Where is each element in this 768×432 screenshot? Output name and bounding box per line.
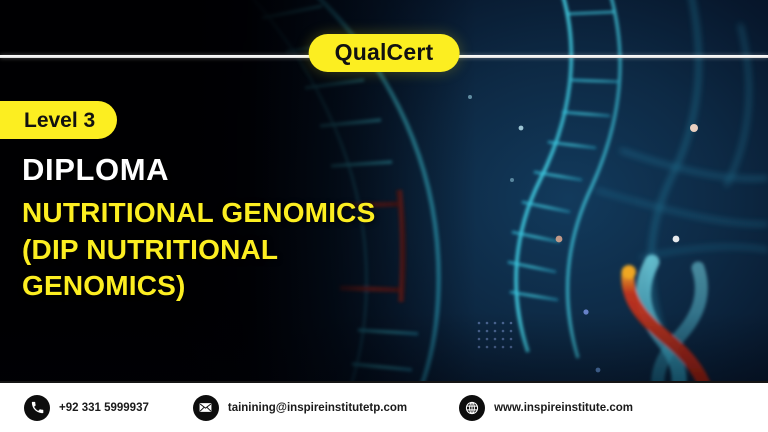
level-badge: Level 3 <box>0 101 117 139</box>
dot-grid-icon <box>476 320 518 354</box>
globe-icon <box>459 395 485 421</box>
course-banner: QualCert Level 3 DIPLOMA NUTRITIONAL GEN… <box>0 0 768 432</box>
course-subtitle-line-2: (DIP NUTRITIONAL <box>22 232 522 269</box>
contact-footer: +92 331 5999937 tainining@inspireinstitu… <box>0 381 768 432</box>
dna-helix-small <box>508 0 622 358</box>
contact-phone-value: +92 331 5999937 <box>59 402 149 414</box>
brand-badge: QualCert <box>309 34 460 72</box>
contact-website[interactable]: www.inspireinstitute.com <box>459 395 633 421</box>
contact-phone[interactable]: +92 331 5999937 <box>24 395 149 421</box>
course-subtitle-line-1: NUTRITIONAL GENOMICS <box>22 195 522 232</box>
envelope-icon <box>193 395 219 421</box>
chromosome <box>622 262 706 392</box>
page-title: DIPLOMA <box>22 154 522 187</box>
course-title-block: DIPLOMA NUTRITIONAL GENOMICS (DIP NUTRIT… <box>22 154 522 305</box>
contact-website-value: www.inspireinstitute.com <box>494 402 633 414</box>
course-subtitle-line-3: GENOMICS) <box>22 268 522 305</box>
phone-icon <box>24 395 50 421</box>
contact-email-value: tainining@inspireinstitutetp.com <box>228 402 407 414</box>
course-subtitle: NUTRITIONAL GENOMICS (DIP NUTRITIONAL GE… <box>22 195 522 306</box>
contact-email[interactable]: tainining@inspireinstitutetp.com <box>193 395 407 421</box>
